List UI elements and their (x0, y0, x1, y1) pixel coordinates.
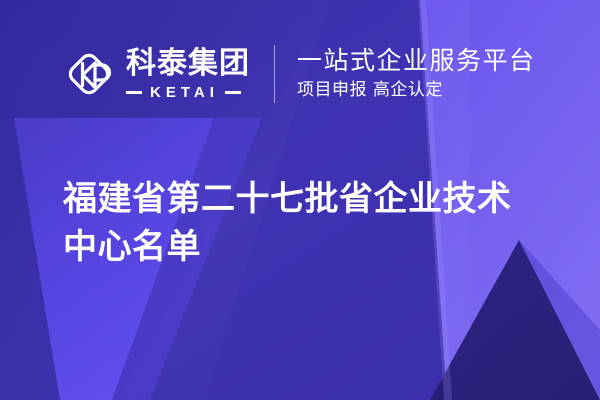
brand-logo[interactable]: 科泰集团 KETAI (62, 43, 250, 105)
tagline-main: 一站式企业服务平台 (297, 47, 536, 74)
logo-rule-right-icon (225, 91, 241, 94)
page-title: 福建省第二十七批省企业技术中心名单 (63, 175, 533, 272)
promo-banner: 科泰集团 KETAI 一站式企业服务平台 项目申报 高企认定 福建省第二十七批省… (0, 0, 600, 400)
banner-header: 科泰集团 KETAI 一站式企业服务平台 项目申报 高企认定 (62, 38, 536, 110)
tagline-block: 一站式企业服务平台 项目申报 高企认定 (297, 47, 536, 101)
logo-english-row: KETAI (126, 85, 250, 100)
tagline-sub: 项目申报 高企认定 (297, 81, 536, 101)
ketai-kp-diamond-logo-icon (62, 47, 116, 101)
logo-company-name-cn: 科泰集团 (126, 49, 250, 79)
logo-wordmark: 科泰集团 KETAI (126, 49, 250, 100)
logo-rule-left-icon (126, 91, 142, 94)
vertical-divider-icon (274, 45, 275, 103)
logo-company-name-en: KETAI (142, 85, 225, 100)
